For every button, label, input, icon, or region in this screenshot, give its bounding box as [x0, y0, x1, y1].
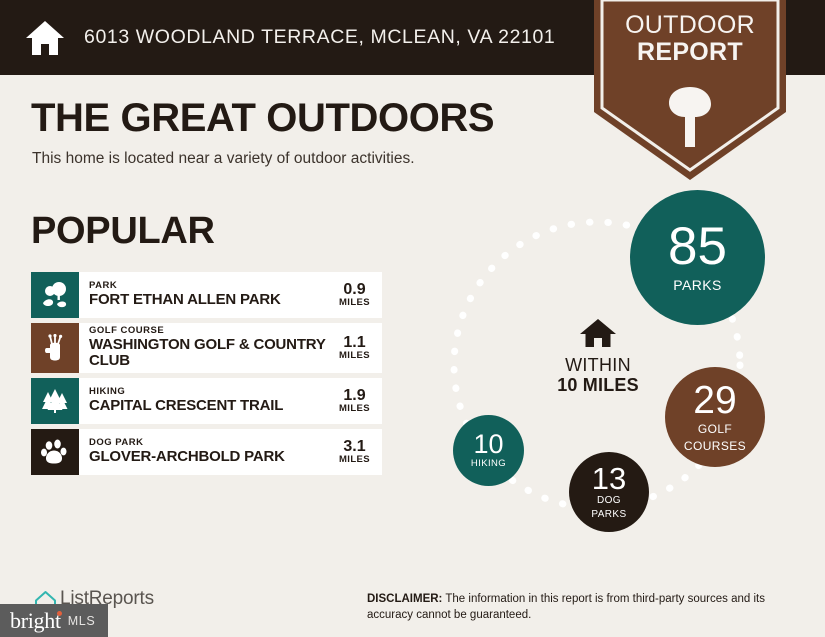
distance-unit: MILES: [339, 455, 370, 465]
list-item-distance: 0.9 MILES: [333, 282, 378, 309]
list-item-text: PARK FORT ETHAN ALLEN PARK: [89, 281, 333, 308]
parks-label: PARKS: [673, 278, 721, 293]
stat-bubble-hiking[interactable]: 10 HIKING: [453, 415, 524, 486]
within-10-miles-chart: WITHIN 10 MILES 85 PARKS 29 GOLF COURSES…: [400, 170, 825, 570]
page-subtitle: This home is located near a variety of o…: [32, 150, 415, 168]
popular-heading: POPULAR: [31, 210, 215, 253]
list-item-distance: 1.1 MILES: [333, 335, 378, 362]
stat-bubble-dog-parks[interactable]: 13 DOG PARKS: [569, 452, 649, 532]
list-item-body: GOLF COURSE WASHINGTON GOLF & COUNTRY CL…: [79, 323, 382, 373]
list-item-distance: 1.9 MILES: [333, 388, 378, 415]
badge-line-1: OUTDOOR: [625, 11, 755, 39]
golf-label-line-2: COURSES: [684, 440, 746, 453]
bright-wordmark: bright: [10, 608, 61, 634]
dog-parks-label-line-1: DOG: [597, 496, 621, 507]
list-item[interactable]: DOG PARK GLOVER-ARCHBOLD PARK 3.1 MILES: [31, 429, 382, 475]
home-icon: [579, 317, 617, 349]
park-icon: [31, 272, 79, 318]
hiking-label: HIKING: [471, 459, 506, 469]
golf-count: 29: [693, 382, 736, 419]
stat-bubble-parks[interactable]: 85 PARKS: [630, 190, 765, 325]
list-item-name: WASHINGTON GOLF & COUNTRY CLUB: [89, 337, 333, 370]
list-item[interactable]: HIKING CAPITAL CRESCENT TRAIL 1.9 MILES: [31, 378, 382, 424]
distance-value: 0.9: [339, 282, 370, 299]
badge-line-2: REPORT: [594, 39, 786, 66]
list-item-text: HIKING CAPITAL CRESCENT TRAIL: [89, 387, 333, 414]
stat-bubble-golf-courses[interactable]: 29 GOLF COURSES: [665, 367, 765, 467]
list-item-name: CAPITAL CRESCENT TRAIL: [89, 398, 333, 415]
list-item-distance: 3.1 MILES: [333, 439, 378, 466]
list-item-name: GLOVER-ARCHBOLD PARK: [89, 449, 333, 466]
distance-unit: MILES: [339, 404, 370, 414]
badge-title: OUTDOOR REPORT: [594, 12, 786, 65]
page-title: THE GREAT OUTDOORS: [31, 96, 494, 141]
distance-value: 1.9: [339, 388, 370, 405]
disclaimer-label: DISCLAIMER:: [367, 593, 442, 605]
outdoor-report-badge: OUTDOOR REPORT: [594, 0, 786, 180]
outdoor-report-page: 6013 WOODLAND TERRACE, MCLEAN, VA 22101 …: [0, 0, 825, 637]
disclaimer: DISCLAIMER: The information in this repo…: [367, 592, 797, 623]
chart-center-label: WITHIN 10 MILES: [528, 317, 668, 396]
distance-value: 3.1: [339, 439, 370, 456]
list-item-body: PARK FORT ETHAN ALLEN PARK 0.9 MILES: [79, 272, 382, 318]
home-icon: [24, 18, 66, 58]
paw-print-icon: [31, 429, 79, 475]
center-line-1: WITHIN: [528, 356, 668, 376]
golf-label-line-1: GOLF: [698, 423, 732, 436]
golf-bag-icon: [31, 323, 79, 373]
distance-value: 1.1: [339, 335, 370, 352]
list-item[interactable]: GOLF COURSE WASHINGTON GOLF & COUNTRY CL…: [31, 323, 382, 373]
mls-text: MLS: [68, 614, 96, 628]
parks-count: 85: [668, 222, 727, 272]
list-item[interactable]: PARK FORT ETHAN ALLEN PARK 0.9 MILES: [31, 272, 382, 318]
center-line-2: 10 MILES: [528, 376, 668, 396]
bright-mls-logo[interactable]: bright MLS: [0, 604, 108, 637]
dog-parks-count: 13: [592, 464, 626, 493]
dog-parks-label-line-2: PARKS: [591, 510, 626, 521]
pine-trees-icon: [31, 378, 79, 424]
bright-dot-accent: [57, 611, 62, 616]
list-item-body: HIKING CAPITAL CRESCENT TRAIL 1.9 MILES: [79, 378, 382, 424]
distance-unit: MILES: [339, 351, 370, 361]
distance-unit: MILES: [339, 298, 370, 308]
popular-list: PARK FORT ETHAN ALLEN PARK 0.9 MILES: [31, 272, 382, 480]
list-item-name: FORT ETHAN ALLEN PARK: [89, 292, 333, 309]
hiking-count: 10: [473, 432, 503, 458]
property-address: 6013 WOODLAND TERRACE, MCLEAN, VA 22101: [84, 26, 555, 49]
list-item-text: DOG PARK GLOVER-ARCHBOLD PARK: [89, 438, 333, 465]
list-item-body: DOG PARK GLOVER-ARCHBOLD PARK 3.1 MILES: [79, 429, 382, 475]
list-item-text: GOLF COURSE WASHINGTON GOLF & COUNTRY CL…: [89, 326, 333, 370]
